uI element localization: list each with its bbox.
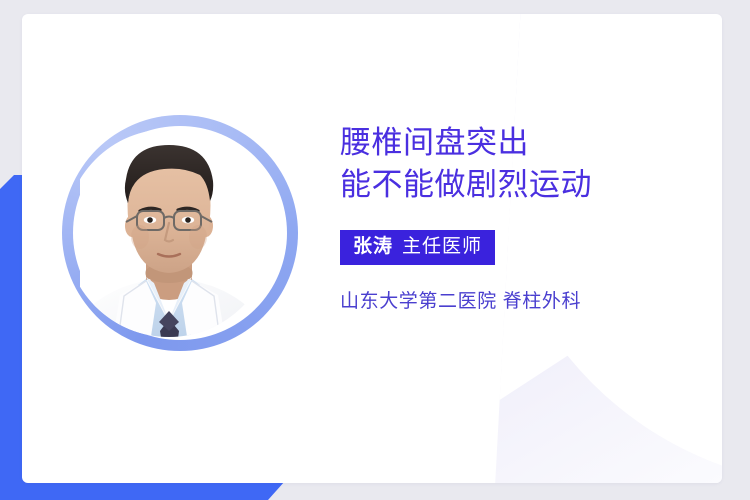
- doctor-affiliation: 山东大学第二医院 脊柱外科: [340, 289, 710, 315]
- text-block: 腰椎间盘突出 能不能做剧烈运动 张涛主任医师 山东大学第二医院 脊柱外科: [340, 122, 710, 315]
- portrait-photo: [80, 123, 280, 370]
- poster-canvas: 腰椎间盘突出 能不能做剧烈运动 张涛主任医师 山东大学第二医院 脊柱外科: [0, 0, 750, 500]
- headline-line-2: 能不能做剧烈运动: [340, 164, 710, 206]
- doctor-badge: 张涛主任医师: [340, 230, 495, 265]
- doctor-portrait: [62, 115, 312, 370]
- doctor-photo-illustration: [80, 123, 280, 370]
- headline-line-1: 腰椎间盘突出: [340, 122, 710, 164]
- bottom-accent-bar: [0, 481, 285, 500]
- doctor-title: 主任医师: [402, 236, 482, 257]
- doctor-name: 张涛: [353, 236, 393, 257]
- content-card: 腰椎间盘突出 能不能做剧烈运动 张涛主任医师 山东大学第二医院 脊柱外科: [22, 14, 722, 483]
